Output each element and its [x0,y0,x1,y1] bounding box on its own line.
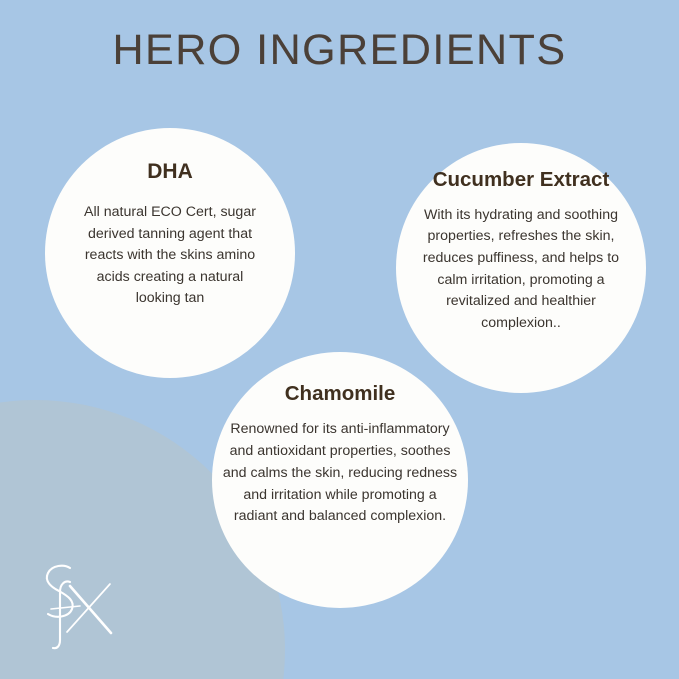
ingredient-bubble-cucumber-extract: Cucumber Extract With its hydrating and … [396,143,646,393]
page-title: HERO INGREDIENTS [0,26,679,75]
sfx-monogram-icon [34,558,134,653]
ingredient-description-chamomile: Renowned for its anti-inflammatory and a… [220,419,460,528]
ingredient-bubble-dha: DHA All natural ECO Cert, sugar derived … [45,128,295,378]
ingredient-name-cucumber-extract: Cucumber Extract [433,168,610,193]
ingredient-description-dha: All natural ECO Cert, sugar derived tann… [73,202,267,310]
ingredient-name-chamomile: Chamomile [285,382,396,405]
ingredient-bubble-chamomile: Chamomile Renowned for its anti-inflamma… [212,352,468,608]
ingredient-name-dha: DHA [147,160,193,184]
brand-logo-sfx [34,558,134,653]
ingredient-description-cucumber-extract: With its hydrating and soothing properti… [413,205,629,335]
hero-ingredients-infographic: HERO INGREDIENTS DHA All natural ECO Cer… [0,0,679,679]
